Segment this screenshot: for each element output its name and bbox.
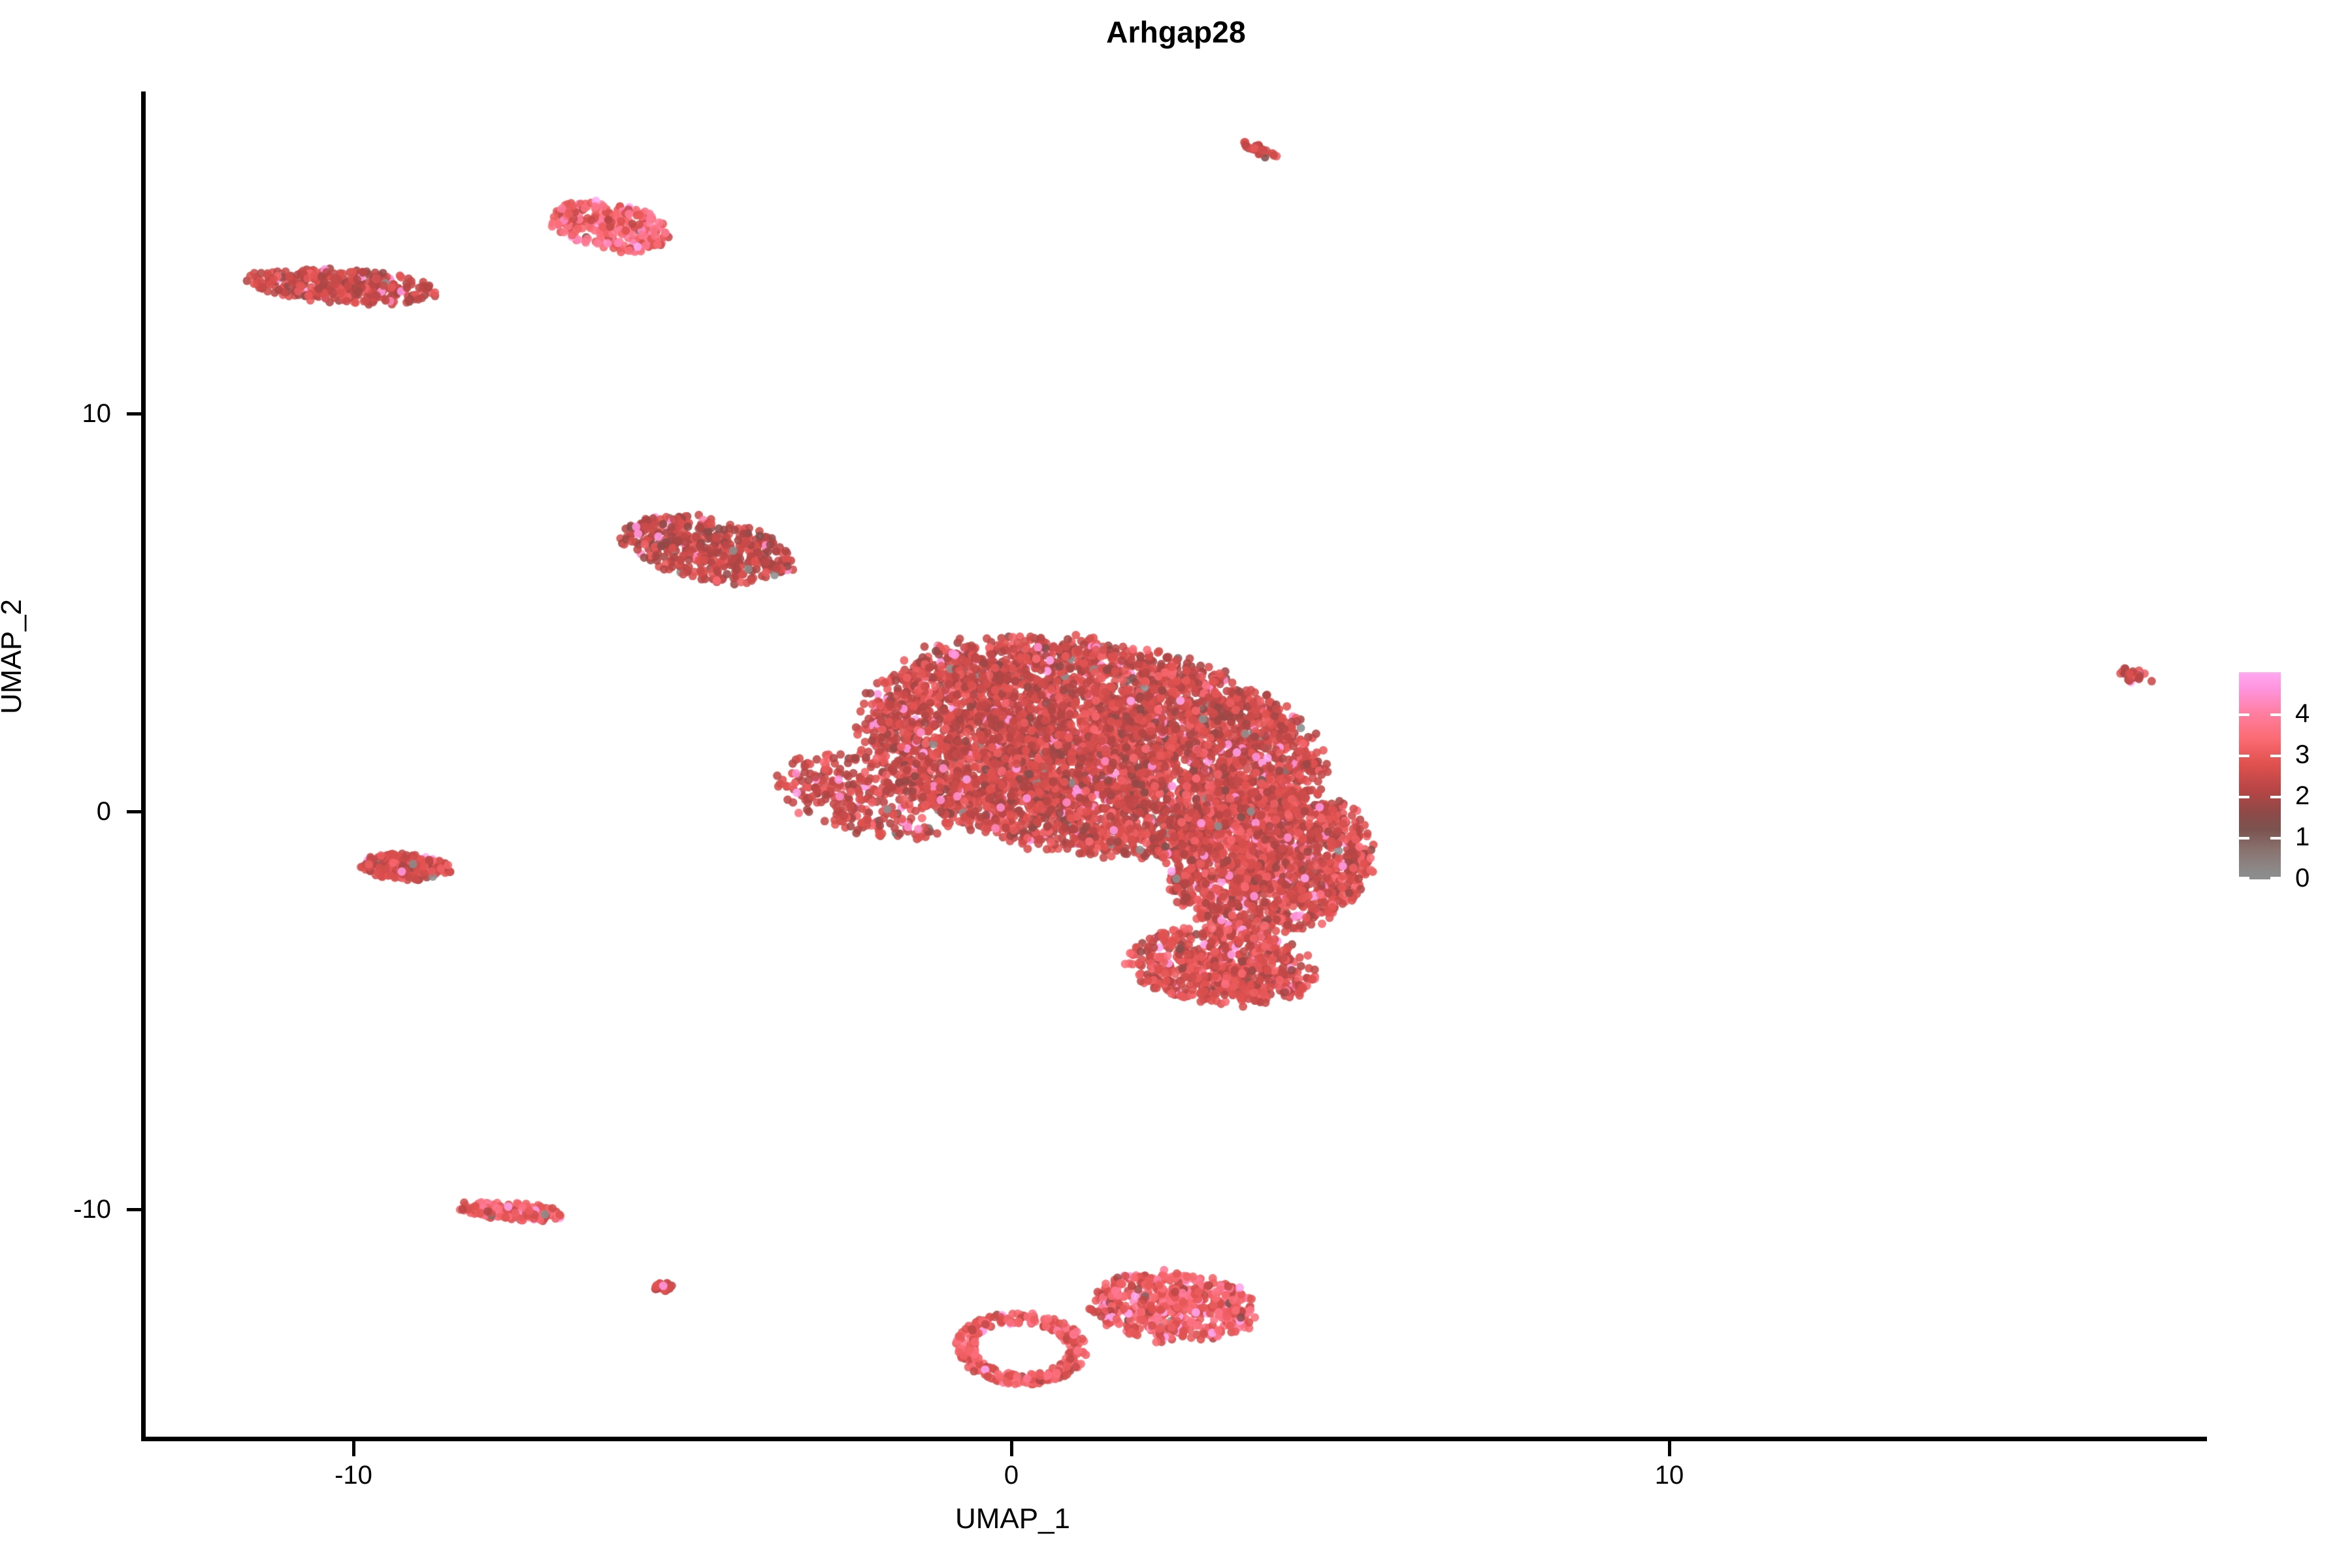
y-axis-label: UMAP_2 bbox=[0, 526, 28, 787]
y-tick-label-0: 0 bbox=[13, 797, 111, 826]
legend-tick-2-right bbox=[2270, 796, 2281, 798]
y-tick-label-10: 10 bbox=[13, 399, 111, 429]
x-axis-label: UMAP_1 bbox=[849, 1503, 1176, 1535]
legend-tick-3-right bbox=[2270, 755, 2281, 757]
x-tick-label-neg10: -10 bbox=[288, 1461, 419, 1490]
y-tick-mark-neg10 bbox=[127, 1208, 141, 1211]
x-tick-mark-0 bbox=[1010, 1441, 1013, 1456]
y-tick-mark-10 bbox=[127, 412, 141, 416]
colorbar-gradient bbox=[2239, 672, 2281, 879]
legend-label-4: 4 bbox=[2295, 700, 2310, 727]
legend-tick-1-left bbox=[2239, 837, 2249, 840]
legend-tick-0-right bbox=[2270, 877, 2281, 879]
x-tick-label-10: 10 bbox=[1604, 1461, 1735, 1490]
scatter-canvas bbox=[0, 0, 2352, 1568]
legend-label-0: 0 bbox=[2295, 865, 2310, 891]
legend-tick-2-left bbox=[2239, 796, 2249, 798]
legend-label-3: 3 bbox=[2295, 742, 2310, 768]
legend-tick-0-left bbox=[2239, 877, 2249, 879]
x-axis-line bbox=[141, 1437, 2207, 1441]
legend-tick-4-left bbox=[2239, 713, 2249, 716]
legend-tick-3-left bbox=[2239, 755, 2249, 757]
y-tick-mark-0 bbox=[127, 810, 141, 813]
y-axis-line bbox=[141, 91, 146, 1441]
legend-tick-1-right bbox=[2270, 837, 2281, 840]
legend-label-2: 2 bbox=[2295, 783, 2310, 809]
x-tick-label-0: 0 bbox=[946, 1461, 1077, 1490]
legend-label-1: 1 bbox=[2295, 824, 2310, 850]
x-tick-mark-10 bbox=[1668, 1441, 1671, 1456]
x-tick-mark-neg10 bbox=[352, 1441, 355, 1456]
legend-tick-4-right bbox=[2270, 713, 2281, 716]
y-tick-label-neg10: -10 bbox=[13, 1195, 111, 1224]
color-legend: 4 3 2 1 0 bbox=[2239, 672, 2281, 879]
umap-feature-plot: Arhgap28 10 0 -10 -10 0 10 UMAP_2 UMAP_1… bbox=[0, 0, 2352, 1568]
